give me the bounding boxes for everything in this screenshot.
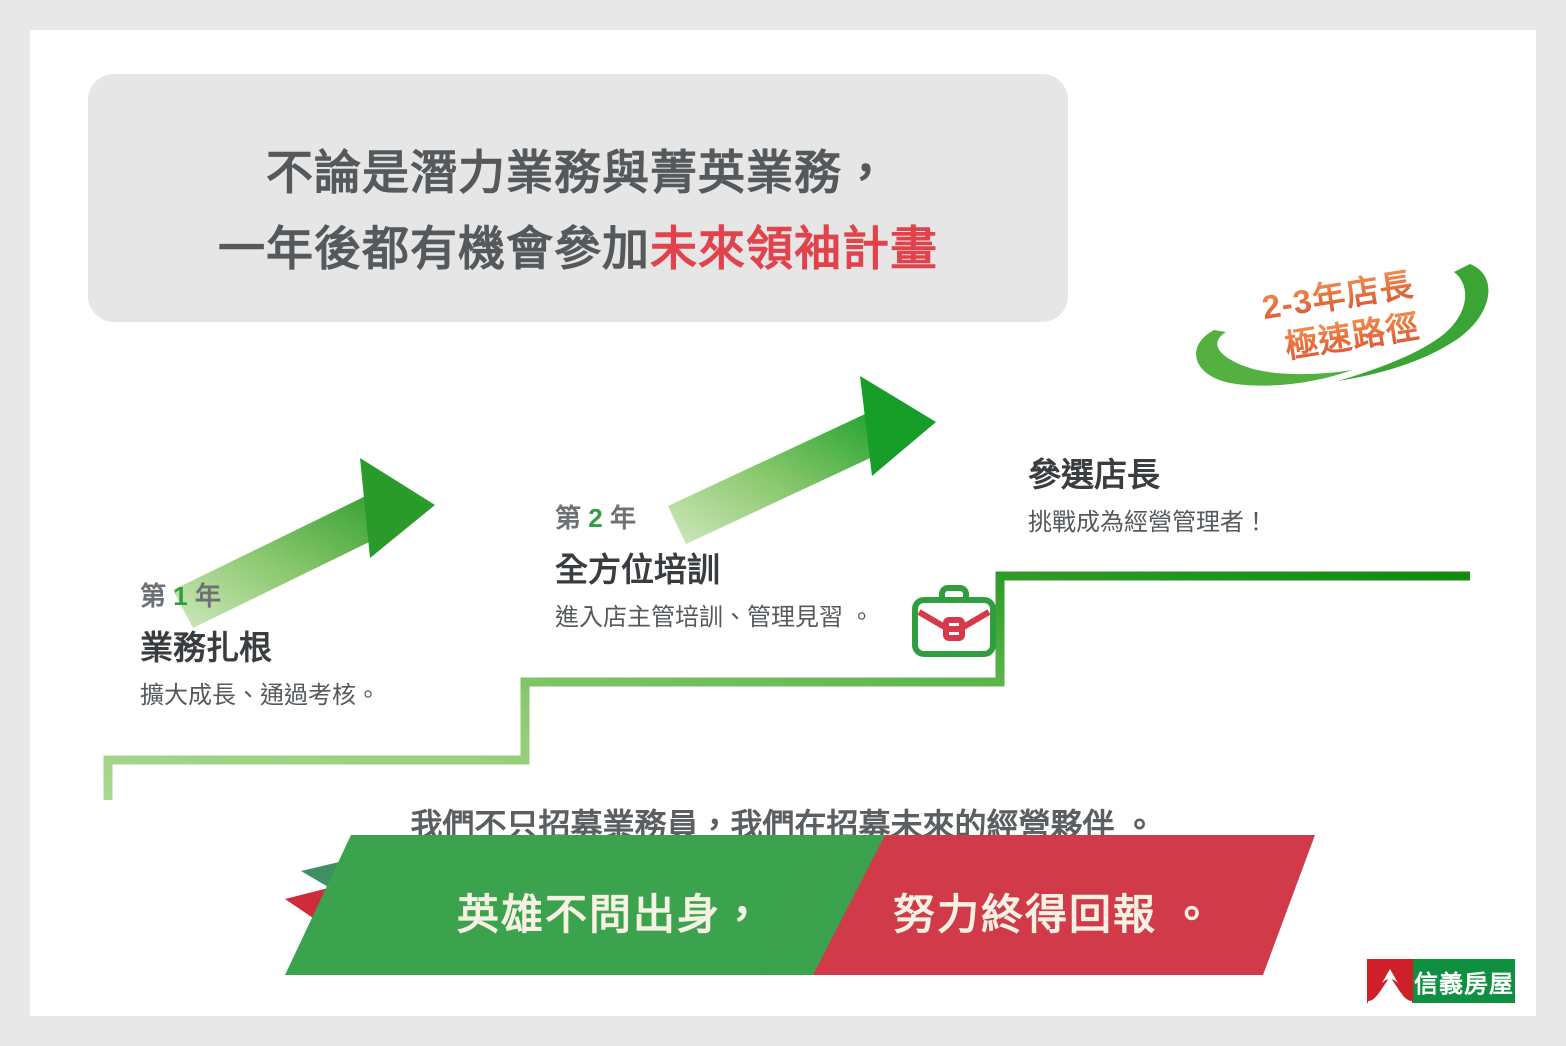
- infographic-card: 不論是潛力業務與菁英業務， 一年後都有機會參加未來領袖計畫 2-3年店長 極速路…: [30, 30, 1536, 1016]
- headline-line-2-lead: 一年後都有機會參加: [218, 222, 650, 275]
- sinyi-mountain-mark-icon: [1367, 959, 1413, 1003]
- headline-line-2-accent: 未來領袖計畫: [650, 222, 938, 275]
- headline-panel: 不論是潛力業務與菁英業務， 一年後都有機會參加未來領袖計畫: [88, 74, 1068, 322]
- step-1-year-number: 1: [173, 581, 187, 611]
- step-block-store-manager: 參選店長 挑戰成為經營管理者！: [1028, 448, 1268, 537]
- slogan-green-text: 英雄不問出身，: [457, 881, 765, 942]
- step-block-year-1: 第 1 年 業務扎根 擴大成長、通過考核。: [140, 576, 380, 710]
- headline-line-1: 不論是潛力業務與菁英業務，: [88, 134, 1068, 203]
- step-block-year-2: 第 2 年 全方位培訓 進入店主管培訓、管理見習 。: [555, 498, 874, 632]
- logo-wordmark: 信義房屋: [1413, 959, 1515, 1003]
- step-1-year-prefix: 第: [140, 581, 166, 611]
- step-2-year-label: 第 2 年: [555, 498, 874, 535]
- headline-line-2: 一年後都有機會參加未來領袖計畫: [88, 210, 1068, 279]
- step-3-description: 挑戰成為經營管理者！: [1028, 502, 1268, 537]
- step-2-title: 全方位培訓: [555, 543, 874, 591]
- step-2-year-number: 2: [588, 503, 602, 533]
- step-3-title: 參選店長: [1028, 448, 1268, 496]
- step-1-title: 業務扎根: [140, 621, 380, 669]
- step-1-year-label: 第 1 年: [140, 576, 380, 613]
- step-2-description: 進入店主管培訓、管理見習 。: [555, 597, 874, 632]
- step-1-year-suffix: 年: [195, 581, 221, 611]
- infographic-canvas: 不論是潛力業務與菁英業務， 一年後都有機會參加未來領袖計畫 2-3年店長 極速路…: [0, 0, 1566, 1046]
- slogan-banner: 英雄不問出身， 努力終得回報 。: [285, 835, 1315, 975]
- step-1-description: 擴大成長、通過考核。: [140, 675, 380, 710]
- step-2-year-suffix: 年: [610, 503, 636, 533]
- briefcase-icon: [908, 582, 1000, 660]
- slogan-red-text: 努力終得回報 。: [893, 881, 1215, 942]
- company-logo: 信義房屋: [1367, 959, 1515, 1003]
- step-2-year-prefix: 第: [555, 503, 581, 533]
